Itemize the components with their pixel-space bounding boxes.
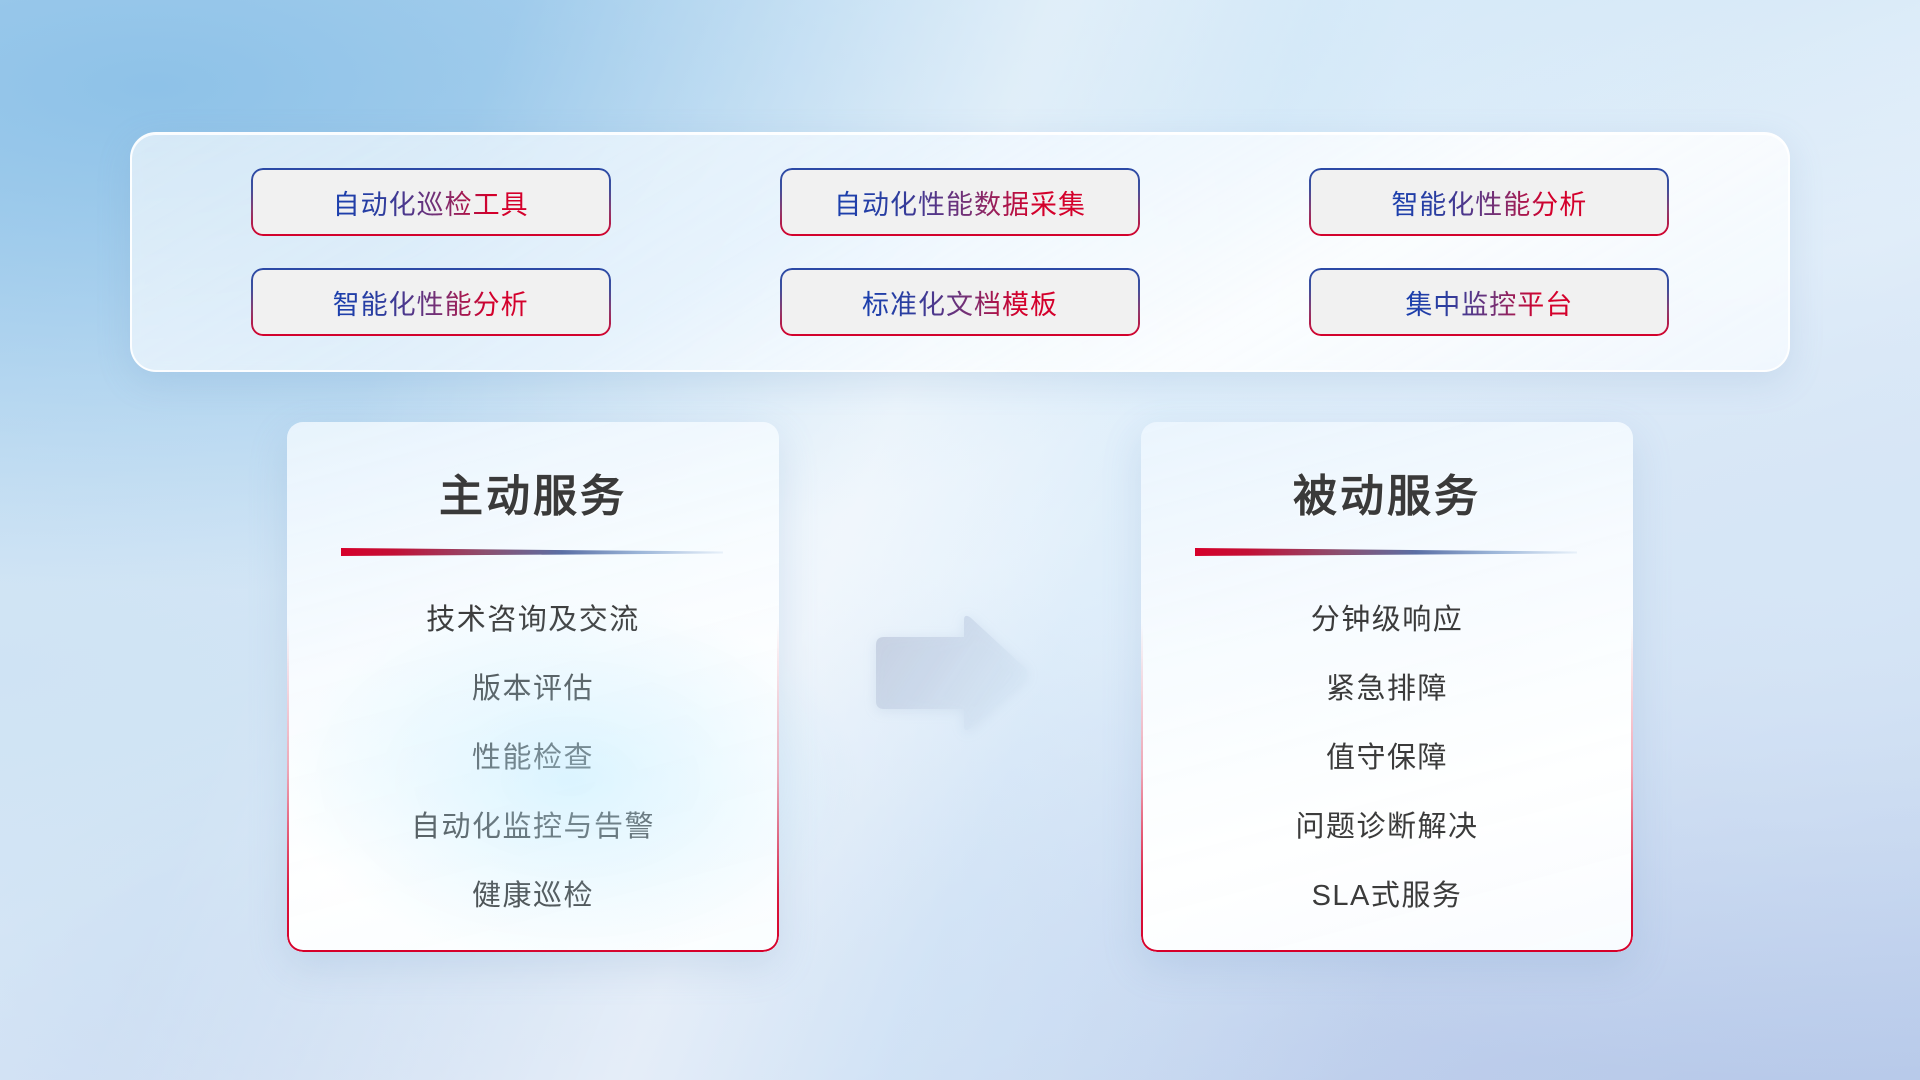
slide-canvas: 自动化巡检工具 自动化性能数据采集 智能化性能分析 智能化性能分析 标准化文档模… (0, 0, 1920, 1080)
capability-chip-label: 自动化性能数据采集 (834, 183, 1086, 222)
capability-chip[interactable]: 自动化巡检工具 (253, 170, 609, 234)
service-list-item: SLA式服务 (1167, 872, 1607, 914)
service-list-item: 版本评估 (313, 665, 753, 707)
capability-chip-label: 集中监控平台 (1405, 283, 1573, 322)
capability-panel: 自动化巡检工具 自动化性能数据采集 智能化性能分析 智能化性能分析 标准化文档模… (130, 132, 1790, 372)
title-underline-rule (1195, 546, 1577, 558)
card-title: 主动服务 (313, 460, 753, 524)
capability-chip-label: 标准化文档模板 (862, 283, 1058, 322)
capability-chip[interactable]: 集中监控平台 (1311, 270, 1667, 334)
capability-chip[interactable]: 智能化性能分析 (253, 270, 609, 334)
capability-chip-label: 自动化巡检工具 (333, 183, 529, 222)
capability-chip[interactable]: 智能化性能分析 (1311, 170, 1667, 234)
capability-chip[interactable]: 自动化性能数据采集 (782, 170, 1138, 234)
service-list-item: 健康巡检 (313, 872, 753, 914)
service-card-passive: 被动服务 分钟级响应 紧急排障 值守保障 (1141, 422, 1633, 952)
service-list-item: 自动化监控与告警 (313, 803, 753, 845)
service-list-item: 问题诊断解决 (1167, 803, 1607, 845)
service-card-active: 主动服务 技术咨询及交流 版本评估 性能检查 (287, 422, 779, 952)
service-list-item: 分钟级响应 (1167, 596, 1607, 638)
capability-chip-label: 智能化性能分析 (333, 283, 529, 322)
service-item-list: 分钟级响应 紧急排障 值守保障 问题诊断解决 SLA式服务 (1167, 596, 1607, 914)
title-underline-rule (341, 546, 723, 558)
capability-chip[interactable]: 标准化文档模板 (782, 270, 1138, 334)
capability-chip-label: 智能化性能分析 (1391, 183, 1587, 222)
right-arrow-icon (870, 615, 1030, 733)
service-list-item: 技术咨询及交流 (313, 596, 753, 638)
service-list-item: 值守保障 (1167, 734, 1607, 776)
service-list-item: 紧急排障 (1167, 665, 1607, 707)
service-list-item: 性能检查 (313, 734, 753, 776)
service-item-list: 技术咨询及交流 版本评估 性能检查 自动化监控与告警 健康巡检 (313, 596, 753, 914)
card-title: 被动服务 (1167, 460, 1607, 524)
